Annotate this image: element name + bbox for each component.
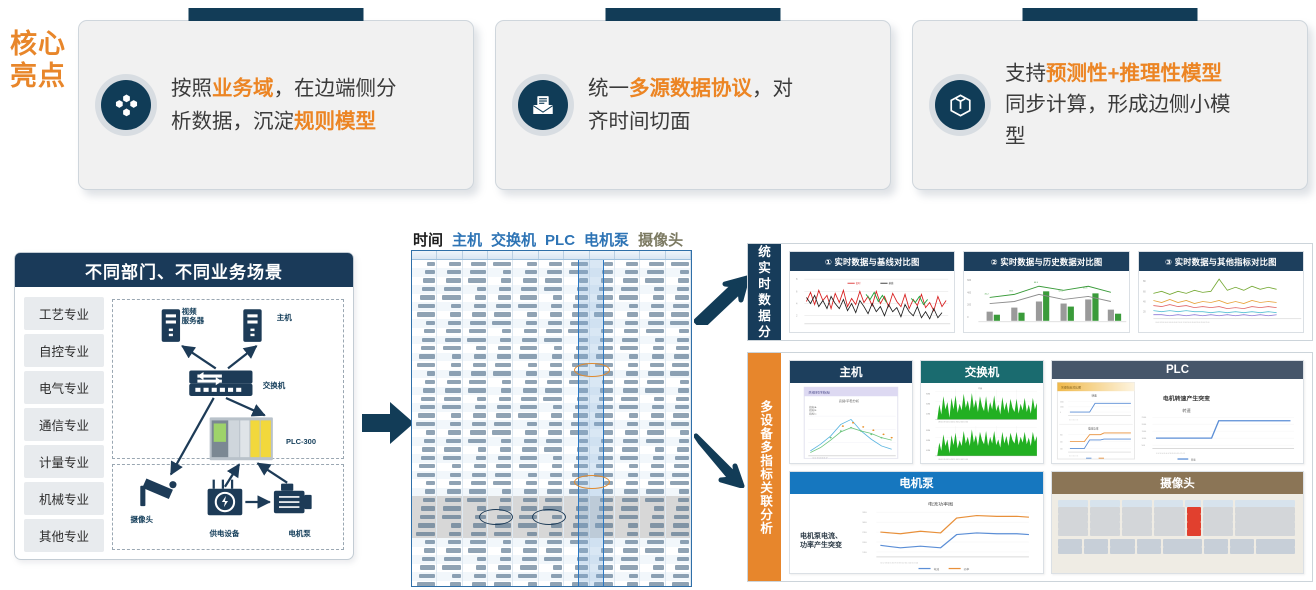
chart-card-other-metrics[interactable]: ③ 实时数据与其他指标对比图 80604020 00:00 02:00 04:0… [1138, 251, 1304, 333]
svg-text:40M: 40M [926, 450, 931, 452]
annotation-ellipse [574, 363, 610, 377]
table-row [412, 344, 691, 352]
table-row [412, 260, 691, 268]
svg-text:转速: 转速 [1182, 407, 1190, 413]
table-row [412, 328, 691, 336]
svg-text:60M: 60M [926, 440, 931, 442]
box-3d-icon [935, 80, 985, 130]
svg-text:200: 200 [967, 304, 972, 307]
multi-device-analysis-tag: 多设备多指标关联分析 [748, 353, 781, 581]
svg-text:300: 300 [862, 521, 867, 524]
table-row [412, 530, 691, 538]
topology-label-switch: 交换机 [263, 381, 286, 390]
traditional-analysis-tag: 传统实时数据分析 [748, 244, 781, 340]
svg-text:高频/平稳分析: 高频/平稳分析 [839, 398, 859, 402]
list-item[interactable]: 计量专业 [24, 445, 104, 478]
table-row [1058, 547, 1297, 554]
list-item[interactable]: 机械专业 [24, 482, 104, 515]
table-row [412, 370, 691, 378]
table-row [412, 311, 691, 319]
spreadsheet-header [412, 251, 691, 260]
table-header-row: 时间 主机 交换机 PLC 电机泵 摄像头 [413, 229, 691, 250]
topology-label-video-server: 视频服务器 [182, 307, 205, 326]
table-row [412, 488, 691, 496]
svg-text:功率: 功率 [964, 567, 970, 571]
svg-text:电流功率图: 电流功率图 [928, 501, 954, 507]
table-row [412, 319, 691, 327]
list-item[interactable]: 自控专业 [24, 334, 104, 367]
svg-text:关键时序指标: 关键时序指标 [808, 390, 831, 394]
chart-card-baseline[interactable]: ① 实时数据与基线对比图 8642 实时 [789, 251, 955, 333]
list-item[interactable]: 其他专业 [24, 519, 104, 552]
device-card-host[interactable]: 主机 关键时序指标 高频/平稳分析 指标A指标B指标C [789, 360, 913, 464]
device-card-pump[interactable]: 电机泵 电流功率图 350300250200150 t1 t2 t3 t4 t5… [789, 471, 1044, 575]
card-icon-wrap [95, 74, 157, 136]
svg-text:t1 t2 t3 t4 t5 t6 t7 t8 t9 t10: t1 t2 t3 t4 t5 t6 t7 t8 t9 t10 t11 t12 t… [880, 561, 919, 564]
table-row [412, 361, 691, 369]
highlighted-column [578, 260, 604, 587]
table-row [1058, 522, 1297, 529]
table-row [412, 336, 691, 344]
svg-text:00:00 02:00 04:00 06:00 08:00: 00:00 02:00 04:00 06:00 08:00 10:00 12:0… [1155, 322, 1209, 324]
svg-text:t1 t2 t3 t4 t5 t6 t7: t1 t2 t3 t4 t5 t6 t7 [812, 457, 827, 460]
scene-panel-title: 不同部门、不同业务场景 [15, 253, 353, 287]
core-highlight-label: 核心亮点 [10, 28, 66, 93]
table-row [412, 581, 691, 587]
document-envelope-icon [518, 80, 568, 130]
chart-plot: 8642 实时 基线 [790, 271, 954, 332]
table-row [412, 412, 691, 420]
table-row [1058, 507, 1297, 514]
card-icon-wrap [512, 74, 574, 136]
chart-title: ② 实时数据与历史数据对比图 [964, 252, 1128, 271]
device-card-plc[interactable]: PLC 关键指标对比图 转速 200010000 t t t t t t t t… [1051, 360, 1304, 464]
svg-text:100: 100 [1060, 448, 1063, 450]
device-card-title: PLC [1052, 361, 1303, 379]
table-row [1058, 529, 1297, 536]
device-card-title: 交换机 [921, 361, 1043, 383]
svg-text:40M: 40M [926, 414, 931, 416]
table-header [1058, 500, 1297, 507]
svg-text:电流: 电流 [934, 567, 940, 571]
table-row [412, 547, 691, 555]
topology-diagram: 视频服务器 主机 交换机 PLC-300 摄像头 供电设备 电机泵 [112, 297, 344, 552]
table-row [412, 479, 691, 487]
svg-text:400: 400 [967, 291, 972, 294]
list-item[interactable]: 通信专业 [24, 408, 104, 441]
chart-plot: 6004002000 40.258.166. [964, 271, 1128, 332]
table-row [412, 496, 691, 504]
svg-text:200: 200 [1060, 442, 1063, 444]
svg-text:t1 t2 t3 t4 t5 t6 t7 t8 t9 t10: t1 t2 t3 t4 t5 t6 t7 t8 t9 t10 t11 t12 t… [1156, 452, 1185, 455]
svg-text:300: 300 [1060, 435, 1063, 437]
status-badge [1187, 522, 1201, 529]
table-row [412, 564, 691, 572]
chart-title: ① 实时数据与基线对比图 [790, 252, 954, 271]
card-tab [1023, 8, 1198, 21]
card-text: 统一多源数据协议，对 齐时间切面 [588, 72, 793, 138]
device-chart: 80M60M40M 80M60M40M 流量 08:00 09:10 10:20… [921, 383, 1043, 463]
svg-text:350: 350 [862, 511, 867, 514]
alarm-detail [1058, 539, 1297, 554]
column-label-plc: PLC [545, 232, 575, 249]
svg-text:08:00 09:10 10:20 11:30 12:40: 08:00 09:10 10:20 11:30 12:40 13:50 [938, 422, 968, 424]
highlight-card-3: 支持预测性+推理性模型 同步计算，形成边侧小模 型 [912, 20, 1308, 190]
column-label-switch: 交换机 [491, 229, 536, 250]
table-row [412, 268, 691, 276]
table-row [412, 302, 691, 310]
table-row [412, 420, 691, 428]
table-row [412, 463, 691, 471]
table-row [412, 572, 691, 580]
annotation-ellipse [479, 509, 513, 525]
table-row [412, 395, 691, 403]
column-label-host: 主机 [452, 229, 482, 250]
data-spreadsheet[interactable] [411, 250, 692, 587]
cube-network-icon [101, 80, 151, 130]
annotation-ellipse [574, 475, 610, 489]
svg-text:电机转速产生突变: 电机转速产生突变 [1163, 395, 1210, 403]
svg-text:80M: 80M [926, 394, 931, 396]
table-row [412, 277, 691, 285]
svg-text:电流功率: 电流功率 [1088, 426, 1099, 430]
topology-label-plc: PLC-300 [286, 437, 316, 446]
device-card-title: 电机泵 [790, 472, 1043, 494]
chart-card-history[interactable]: ② 实时数据与历史数据对比图 6004002000 [963, 251, 1129, 333]
table-row [412, 285, 691, 293]
svg-text:指标A: 指标A [809, 405, 816, 409]
table-row [412, 471, 691, 479]
list-item[interactable]: 工艺专业 [24, 297, 104, 330]
card-tab [189, 8, 364, 21]
device-card-camera[interactable]: 摄像头 [1051, 471, 1304, 575]
flow-arrow-right [362, 398, 414, 448]
table-row [412, 403, 691, 411]
card-tab [606, 8, 781, 21]
table-row [412, 454, 691, 462]
spreadsheet-rows [412, 260, 691, 587]
svg-text:转速: 转速 [1091, 393, 1097, 397]
status-badge [1187, 507, 1201, 514]
svg-text:150: 150 [862, 550, 867, 553]
table-row [412, 378, 691, 386]
svg-text:指标B: 指标B [809, 408, 816, 412]
card-text: 支持预测性+推理性模型 同步计算，形成边侧小模 型 [1005, 58, 1231, 151]
svg-text:60M: 60M [926, 404, 931, 406]
highlight-card-1: 按照业务域，在边端侧分 析数据，沉淀规则模型 [78, 20, 474, 190]
chart-title: ③ 实时数据与其他指标对比图 [1139, 252, 1303, 271]
column-label-camera: 摄像头 [638, 229, 683, 250]
svg-text:1000: 1000 [1060, 407, 1064, 409]
svg-text:250: 250 [862, 531, 867, 534]
column-label-time: 时间 [413, 229, 443, 250]
highlight-card-2: 统一多源数据协议，对 齐时间切面 [495, 20, 891, 190]
svg-text:80M: 80M [926, 430, 931, 432]
svg-text:200: 200 [862, 541, 867, 544]
device-card-title: 主机 [790, 361, 912, 383]
device-card-title: 摄像头 [1052, 472, 1303, 494]
table-row [412, 294, 691, 302]
annotation-ellipse [532, 509, 566, 525]
svg-text:0: 0 [1060, 412, 1061, 414]
alarm-table [1058, 500, 1297, 555]
device-chart: 关键时序指标 高频/平稳分析 指标A指标B指标C t1 t2 t3 t4 t5 … [790, 383, 912, 463]
multi-device-analysis-panel: 多设备多指标关联分析 主机 关键时序指标 高频/平稳分析 指标A指标B指标C [747, 352, 1313, 582]
flow-arrow-down-right [694, 430, 752, 488]
table-row [412, 437, 691, 445]
card-text: 按照业务域，在边端侧分 析数据，沉淀规则模型 [171, 72, 397, 138]
svg-text:关键指标对比图: 关键指标对比图 [1061, 386, 1081, 390]
status-badge [1187, 529, 1201, 536]
table-header [1058, 539, 1297, 546]
svg-text:08:00 09:10 10:20 11:30 12:40: 08:00 09:10 10:20 11:30 12:40 13:50 [938, 459, 968, 461]
svg-text:600: 600 [967, 279, 972, 282]
topology-label-pump: 电机泵 [288, 529, 311, 538]
traditional-analysis-panel: 传统实时数据分析 ① 实时数据与基线对比图 8642 [747, 243, 1313, 341]
flow-arrow-up-right [694, 273, 752, 325]
device-chart: 电流功率图 350300250200150 t1 t2 t3 t4 t5 t6 … [790, 494, 1043, 574]
table-row [412, 555, 691, 563]
svg-text:2000: 2000 [1060, 401, 1064, 403]
svg-text:指标C: 指标C [809, 412, 816, 416]
table-row [412, 387, 691, 395]
topology-label-power: 供电设备 [209, 529, 239, 538]
table-row [1058, 514, 1297, 521]
list-item[interactable]: 电气专业 [24, 371, 104, 404]
table-row [412, 446, 691, 454]
device-alarm-table [1052, 494, 1303, 574]
table-row [412, 538, 691, 546]
topology-label-camera: 摄像头 [131, 515, 154, 524]
table-row [412, 353, 691, 361]
scene-panel: 不同部门、不同业务场景 工艺专业 自控专业 电气专业 通信专业 计量专业 机械专… [14, 252, 354, 560]
card-icon-wrap [929, 74, 991, 136]
column-label-pump: 电机泵 [584, 229, 629, 250]
device-chart: 关键指标对比图 转速 200010000 t t t t t t t t t t… [1052, 379, 1303, 463]
device-card-switch[interactable]: 交换机 80M60M [920, 360, 1044, 464]
chart-plot: 80604020 00:00 02:00 04:00 06:00 08:00 1… [1139, 271, 1303, 332]
device-note: 电机泵电流、功率产生突变 [800, 532, 842, 552]
department-list: 工艺专业 自控专业 电气专业 通信专业 计量专业 机械专业 其他专业 [24, 297, 104, 552]
topology-label-host: 主机 [277, 313, 292, 322]
table-row [412, 429, 691, 437]
status-badge [1187, 514, 1201, 521]
